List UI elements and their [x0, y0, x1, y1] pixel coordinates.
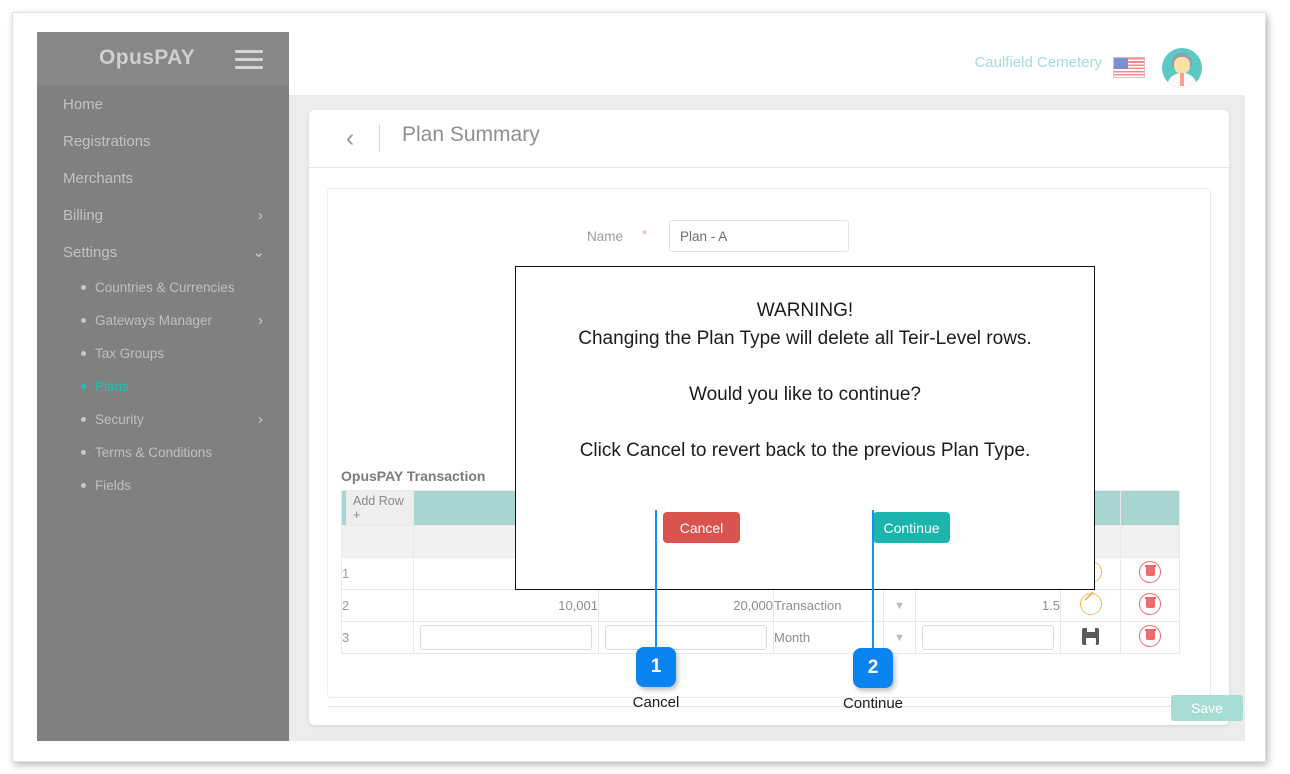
row-rate-input[interactable]: [922, 625, 1054, 650]
chevron-right-icon: ›: [258, 304, 263, 337]
modal-continue-button[interactable]: Continue: [873, 512, 950, 543]
bullet-icon: [81, 351, 86, 356]
sidebar-subitem-label: Gateways Manager: [95, 313, 212, 328]
row-save-cell: [1061, 622, 1121, 654]
callout-badge-1: 1: [636, 647, 676, 687]
modal-line-2: Changing the Plan Type will delete all T…: [516, 325, 1094, 353]
page-title: Plan Summary: [402, 123, 540, 147]
row-to-input[interactable]: [605, 625, 767, 650]
sidebar-item-label: Registrations: [63, 133, 151, 150]
edit-icon[interactable]: [1080, 593, 1102, 615]
sidebar-item-label: Billing: [63, 207, 103, 224]
row-edit-cell: [1061, 590, 1121, 622]
row-from-cell: [414, 622, 599, 654]
table-row: 2 10,001 20,000 Transaction ▼ 1.5: [342, 590, 1180, 622]
chevron-down-icon: ⌄: [252, 234, 265, 271]
delete-icon[interactable]: [1139, 625, 1161, 647]
organization-name: Caulfield Cemetery: [974, 54, 1102, 71]
row-to-cell: [599, 622, 774, 654]
row-index: 2: [342, 590, 414, 622]
sidebar-subitem-security[interactable]: Security ›: [37, 403, 289, 436]
row-to: 20,000: [599, 590, 774, 622]
sidebar-item-settings[interactable]: Settings ⌄: [37, 234, 289, 271]
chevron-right-icon: ›: [258, 197, 263, 234]
sidebar-item-label: Settings: [63, 244, 117, 261]
table-row: 3 Month ▼: [342, 622, 1180, 654]
row-rate-cell: [916, 622, 1061, 654]
bullet-icon: [81, 417, 86, 422]
row-rate: 1.5: [916, 590, 1061, 622]
row-unit-dropdown-icon[interactable]: ▼: [884, 590, 916, 622]
callout-badge-2: 2: [853, 648, 893, 688]
row-from-input[interactable]: [420, 625, 592, 650]
bullet-icon: [81, 483, 86, 488]
callout-label-1: Cancel: [596, 694, 716, 711]
row-index: 1: [342, 558, 414, 590]
sidebar-subitem-label: Terms & Conditions: [95, 445, 212, 460]
avatar[interactable]: [1162, 48, 1202, 88]
table-header-add-row: Add Row +: [342, 491, 414, 526]
callout-line-1: [655, 510, 657, 650]
chevron-right-icon: ›: [258, 403, 263, 436]
sidebar-nav: Home Registrations Merchants Billing › S…: [37, 86, 289, 502]
table-title: OpusPAY Transaction: [341, 468, 485, 484]
sidebar-item-label: Merchants: [63, 170, 133, 187]
row-index: 3: [342, 622, 414, 654]
hamburger-icon[interactable]: [235, 50, 263, 70]
sidebar-item-billing[interactable]: Billing ›: [37, 197, 289, 234]
sidebar-item-registrations[interactable]: Registrations: [37, 123, 289, 160]
required-asterisk: *: [642, 227, 647, 242]
sidebar-subitem-label: Security: [95, 412, 144, 427]
app-shell: OpusPAY Home Registrations Merchants Bil…: [37, 32, 1245, 741]
browser-frame: OpusPAY Home Registrations Merchants Bil…: [12, 12, 1266, 762]
save-icon[interactable]: [1082, 628, 1099, 645]
sidebar-subitem-terms-conditions[interactable]: Terms & Conditions: [37, 436, 289, 469]
modal-cancel-button[interactable]: Cancel: [663, 512, 740, 543]
brand-logo: OpusPAY: [99, 46, 195, 70]
table-header-cell: [1121, 491, 1180, 526]
table-subheader-cell: [1121, 526, 1180, 558]
sidebar-subitem-gateways-manager[interactable]: Gateways Manager ›: [37, 304, 289, 337]
bullet-icon: [81, 450, 86, 455]
sidebar-subitem-countries-currencies[interactable]: Countries & Currencies: [37, 271, 289, 304]
bullet-icon: [81, 318, 86, 323]
row-delete-cell: [1121, 622, 1180, 654]
modal-line-3: Would you like to continue?: [516, 381, 1094, 409]
sidebar-subitem-plans[interactable]: Plans: [37, 370, 289, 403]
sidebar-subitem-label: Tax Groups: [95, 346, 164, 361]
name-label: Name: [587, 229, 623, 244]
sidebar-subitem-tax-groups[interactable]: Tax Groups: [37, 337, 289, 370]
modal-line-1: WARNING!: [516, 297, 1094, 325]
modal-line-4: Click Cancel to revert back to the previ…: [516, 437, 1094, 465]
sidebar-item-merchants[interactable]: Merchants: [37, 160, 289, 197]
callout-label-2: Continue: [813, 695, 933, 712]
sidebar: OpusPAY Home Registrations Merchants Bil…: [37, 32, 289, 741]
page-header: ‹ Plan Summary: [309, 110, 1229, 168]
sidebar-subitem-fields[interactable]: Fields: [37, 469, 289, 502]
sidebar-subitem-label: Fields: [95, 478, 131, 493]
bullet-icon: [81, 285, 86, 290]
back-chevron-icon[interactable]: ‹: [337, 123, 363, 153]
bullet-icon: [81, 384, 86, 389]
warning-modal: WARNING! Changing the Plan Type will del…: [515, 266, 1095, 590]
avatar-tie: [1180, 73, 1184, 86]
us-flag-icon[interactable]: [1113, 57, 1145, 78]
delete-icon[interactable]: [1139, 561, 1161, 583]
save-button[interactable]: Save: [1171, 695, 1243, 721]
add-row-button[interactable]: Add Row +: [346, 491, 413, 525]
delete-icon[interactable]: [1139, 593, 1161, 615]
row-unit[interactable]: Transaction: [774, 590, 884, 622]
table-subheader-cell: [342, 526, 414, 558]
sidebar-item-label: Home: [63, 96, 103, 113]
sidebar-item-home[interactable]: Home: [37, 86, 289, 123]
row-from: 10,001: [414, 590, 599, 622]
row-delete-cell: [1121, 590, 1180, 622]
name-input[interactable]: Plan - A: [669, 220, 849, 252]
sidebar-brand-bar: OpusPAY: [37, 32, 289, 86]
card-footer-divider: [327, 706, 1211, 707]
topbar: Caulfield Cemetery: [289, 32, 1245, 95]
header-divider: [379, 124, 380, 152]
callout-line-2: [872, 510, 874, 650]
sidebar-subitem-label: Plans: [95, 379, 129, 394]
row-delete-cell: [1121, 558, 1180, 590]
sidebar-subitem-label: Countries & Currencies: [95, 280, 235, 295]
avatar-face: [1174, 57, 1190, 74]
